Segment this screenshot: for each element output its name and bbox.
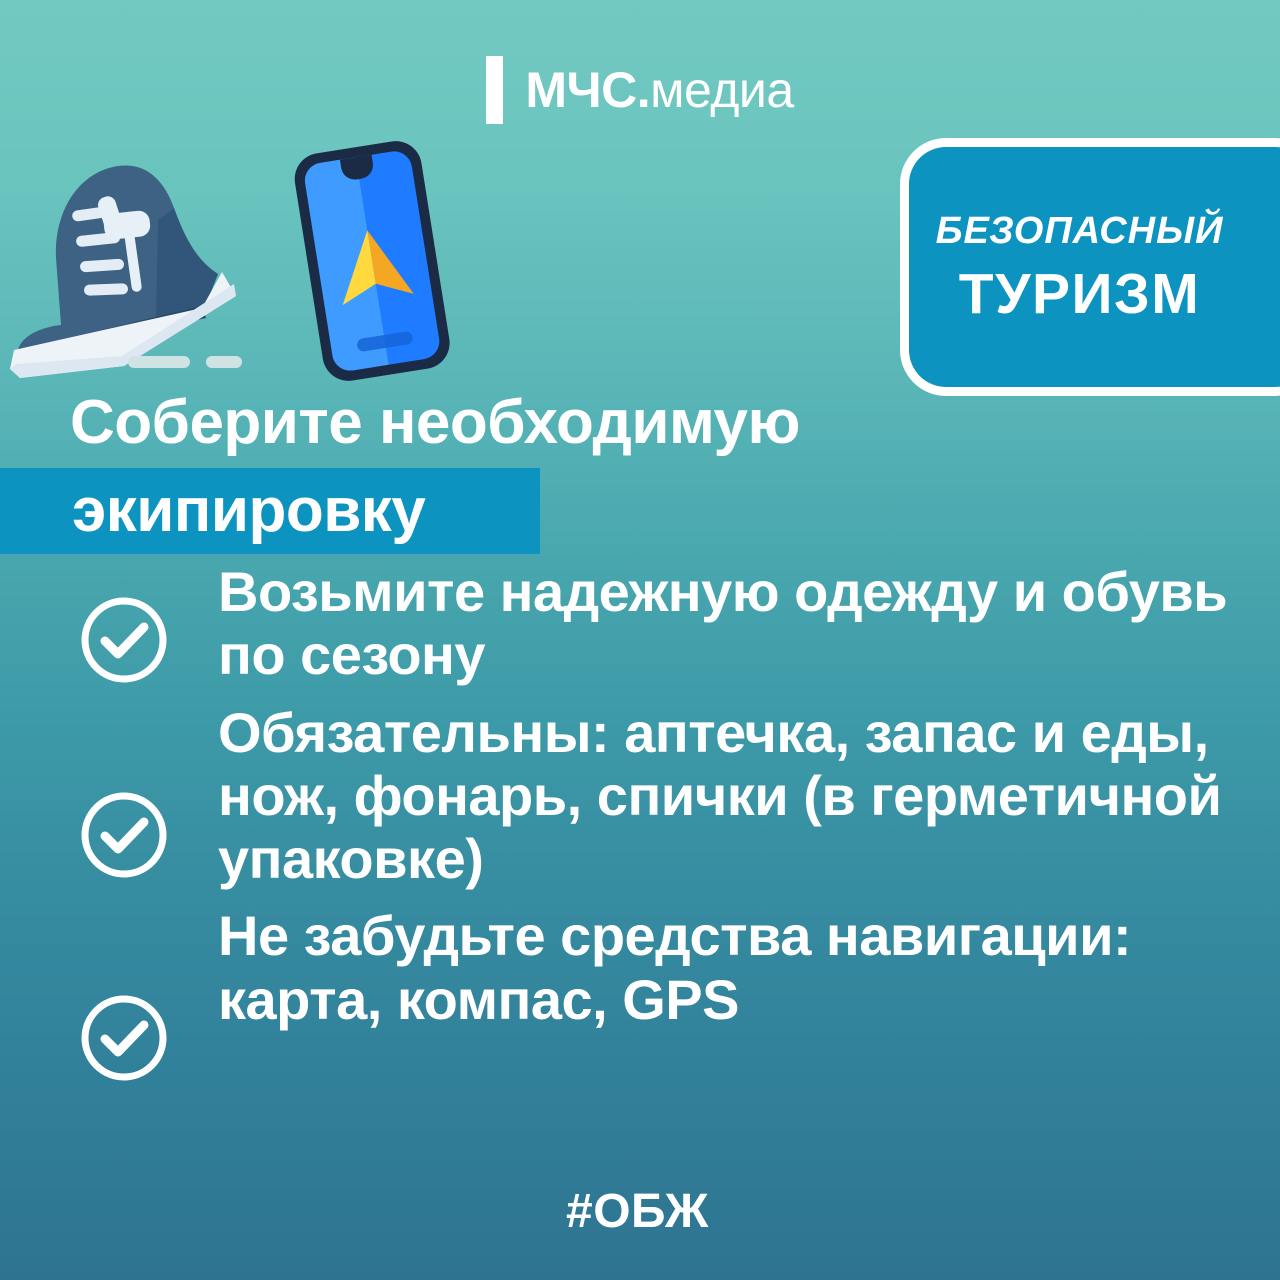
brand-name-bold: МЧС <box>525 62 636 118</box>
list-item: Обязательны: аптечка, запас и еды, нож, … <box>0 701 1280 891</box>
motion-dash-icon <box>128 352 248 372</box>
smartphone-navigation-icon <box>282 138 462 383</box>
list-item-label: Обязательны: аптечка, запас и еды, нож, … <box>218 701 1280 891</box>
check-circle-icon <box>78 789 170 881</box>
hiking-boot-icon <box>6 150 256 385</box>
brand-name-dot: . <box>637 62 650 118</box>
check-circle-icon <box>78 992 170 1084</box>
list-item-label: Не забудьте средства навигации: карта, к… <box>218 904 1280 1031</box>
page-title-line-1: Соберите необходимую <box>70 392 800 454</box>
brand-logo: МЧС.медиа <box>0 56 1280 124</box>
badge-line-tourism: ТУРИЗМ <box>959 266 1200 323</box>
poster-canvas: МЧС.медиа БЕЗОПАСНЫЙ ТУРИЗМ <box>0 0 1280 1280</box>
campaign-badge: БЕЗОПАСНЫЙ ТУРИЗМ <box>900 138 1280 396</box>
brand-logo-text: МЧС.медиа <box>525 65 793 115</box>
list-item: Не забудьте средства навигации: карта, к… <box>0 904 1280 1031</box>
vertical-bar-icon <box>486 56 503 124</box>
check-circle-icon <box>78 594 170 686</box>
hashtag-label: #ОБЖ <box>566 1188 709 1236</box>
page-title-highlight: экипировку <box>0 468 540 554</box>
list-item-label: Возьмите надежную одежду и обувь по сезо… <box>218 560 1280 687</box>
badge-line-safe: БЕЗОПАСНЫЙ <box>936 212 1224 250</box>
brand-name-light: медиа <box>650 62 794 118</box>
checklist: Возьмите надежную одежду и обувь по сезо… <box>0 560 1280 1031</box>
page-title-line-2: экипировку <box>72 480 425 542</box>
list-item: Возьмите надежную одежду и обувь по сезо… <box>0 560 1280 687</box>
